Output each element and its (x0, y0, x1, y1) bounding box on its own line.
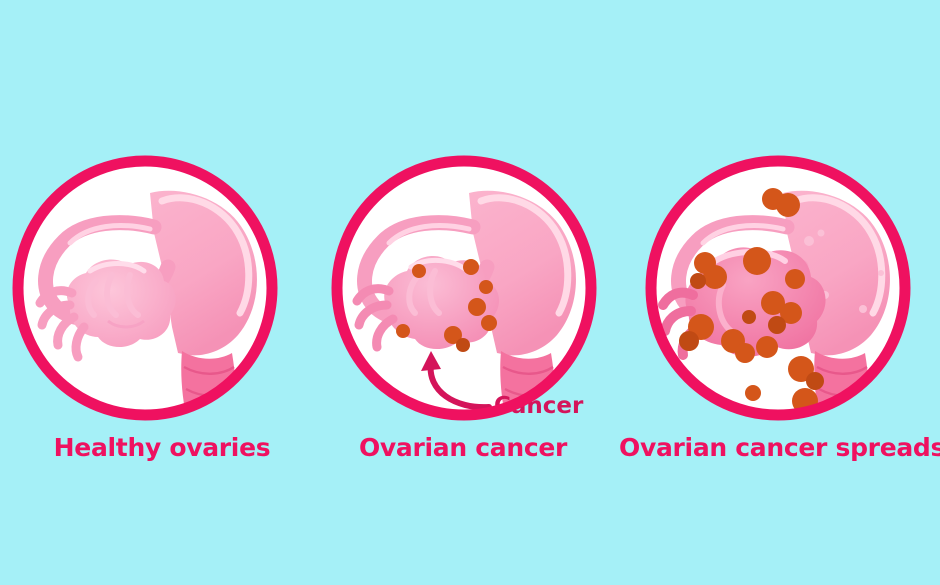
ovarian-cancer-infographic: Cancer (0, 0, 940, 585)
caption-ovarian-cancer: Ovarian cancer (313, 433, 613, 462)
panel-healthy-ovaries (12, 155, 278, 421)
panel-ovarian-cancer: Cancer (331, 155, 597, 421)
uterus-speck-2 (818, 230, 825, 237)
uterus-speck-4 (859, 305, 867, 313)
illustration-ovarian-cancer-spreads (645, 155, 911, 421)
panel-ovarian-cancer-spreads (645, 155, 911, 421)
cervix-fold-3 (188, 411, 237, 418)
cervix-fold-3 (821, 411, 870, 418)
illustration-ovarian-cancer: Cancer (331, 155, 597, 421)
illustration-healthy-ovaries (12, 155, 278, 421)
uterus-speck-1 (804, 236, 814, 246)
caption-ovarian-cancer-spreads: Ovarian cancer spreads (619, 433, 919, 462)
caption-healthy-ovaries: Healthy ovaries (12, 433, 312, 462)
uterus-speck-5 (878, 270, 884, 276)
